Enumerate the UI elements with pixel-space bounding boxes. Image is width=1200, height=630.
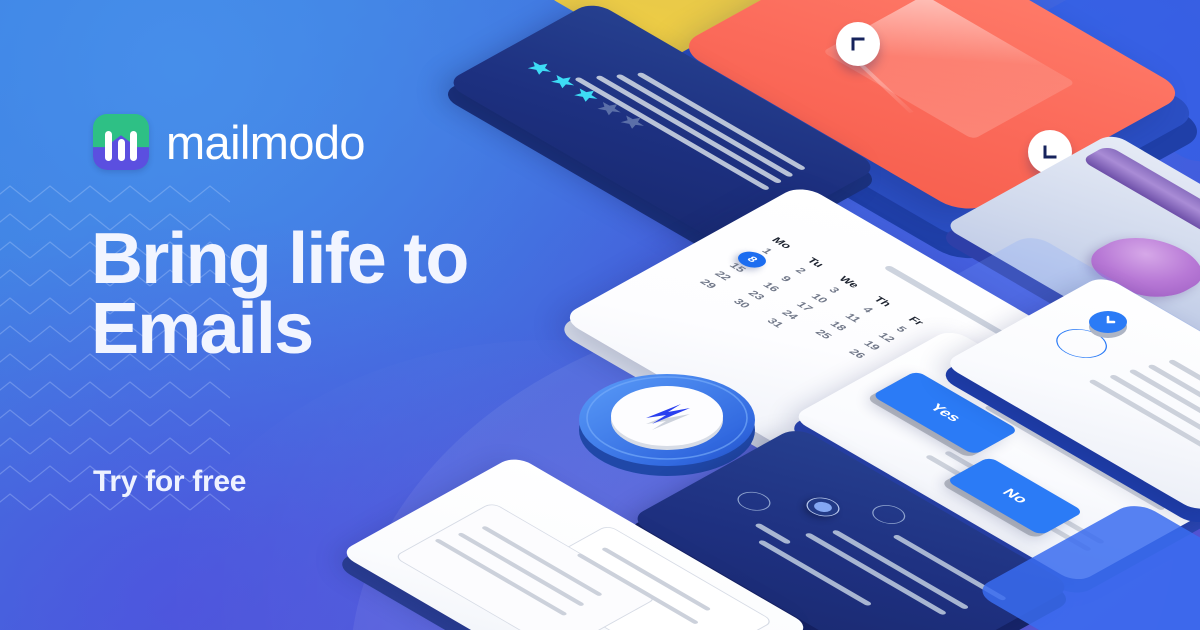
crop-handle-top-left[interactable] — [836, 22, 880, 66]
calendar-day-label: 8 — [744, 255, 760, 264]
calendar-day-label: 5 — [893, 325, 909, 334]
calendar-day-label: 10 — [808, 292, 830, 304]
image-placeholder — [822, 0, 1075, 139]
calendar-day-label: 30 — [730, 297, 752, 309]
calendar-day-label: 1 — [759, 247, 775, 256]
page-title: Bring life to Emails — [91, 225, 561, 365]
corner-bottom-right-icon — [1042, 144, 1058, 160]
calendar-day-label: 3 — [826, 286, 842, 295]
timer-clock-badge[interactable] — [1085, 300, 1131, 346]
radio-option-3[interactable] — [866, 501, 912, 527]
calendar-day-label: 29 — [697, 278, 719, 290]
calendar-day-label: 16 — [760, 281, 782, 293]
headline-line-2: Emails — [91, 289, 312, 369]
calendar-day-label: 17 — [793, 301, 815, 313]
calendar-day-label: 2 — [792, 266, 808, 275]
brand-logo[interactable]: mailmodo — [93, 114, 365, 170]
calendar-day-label: 31 — [764, 317, 786, 329]
radio-option-1[interactable] — [731, 488, 777, 514]
calendar-day-label: 15 — [726, 262, 748, 274]
radio-option-2-selected[interactable] — [800, 494, 846, 520]
calendar-day-label: 23 — [745, 289, 767, 301]
try-for-free-link[interactable]: Try for free — [93, 465, 246, 499]
calendar-day-label: 18 — [827, 320, 849, 332]
corner-top-left-icon — [850, 36, 866, 52]
calendar-day-label: 22 — [712, 270, 734, 282]
brand-name: mailmodo — [166, 119, 365, 166]
calendar-day-label: 4 — [859, 305, 875, 314]
calendar-day-label: 11 — [842, 312, 863, 324]
headline-line-1: Bring life to — [91, 219, 468, 299]
calendar-day-label: 12 — [875, 331, 897, 343]
calendar-day-label: 26 — [846, 348, 868, 360]
star-icon-empty — [614, 111, 652, 132]
mailmodo-logo-icon — [93, 114, 149, 170]
calendar-day-label: 9 — [778, 275, 794, 284]
hero-banner: ‹ › MoTuWeThFrSaSu1234567891011121314151… — [0, 0, 1200, 630]
calendar-day-label: 24 — [779, 309, 801, 321]
calendar-day-label: 19 — [861, 340, 883, 352]
calendar-day-label: 25 — [812, 328, 834, 340]
hero-content: mailmodo Bring life to Emails Try for fr… — [93, 0, 613, 630]
